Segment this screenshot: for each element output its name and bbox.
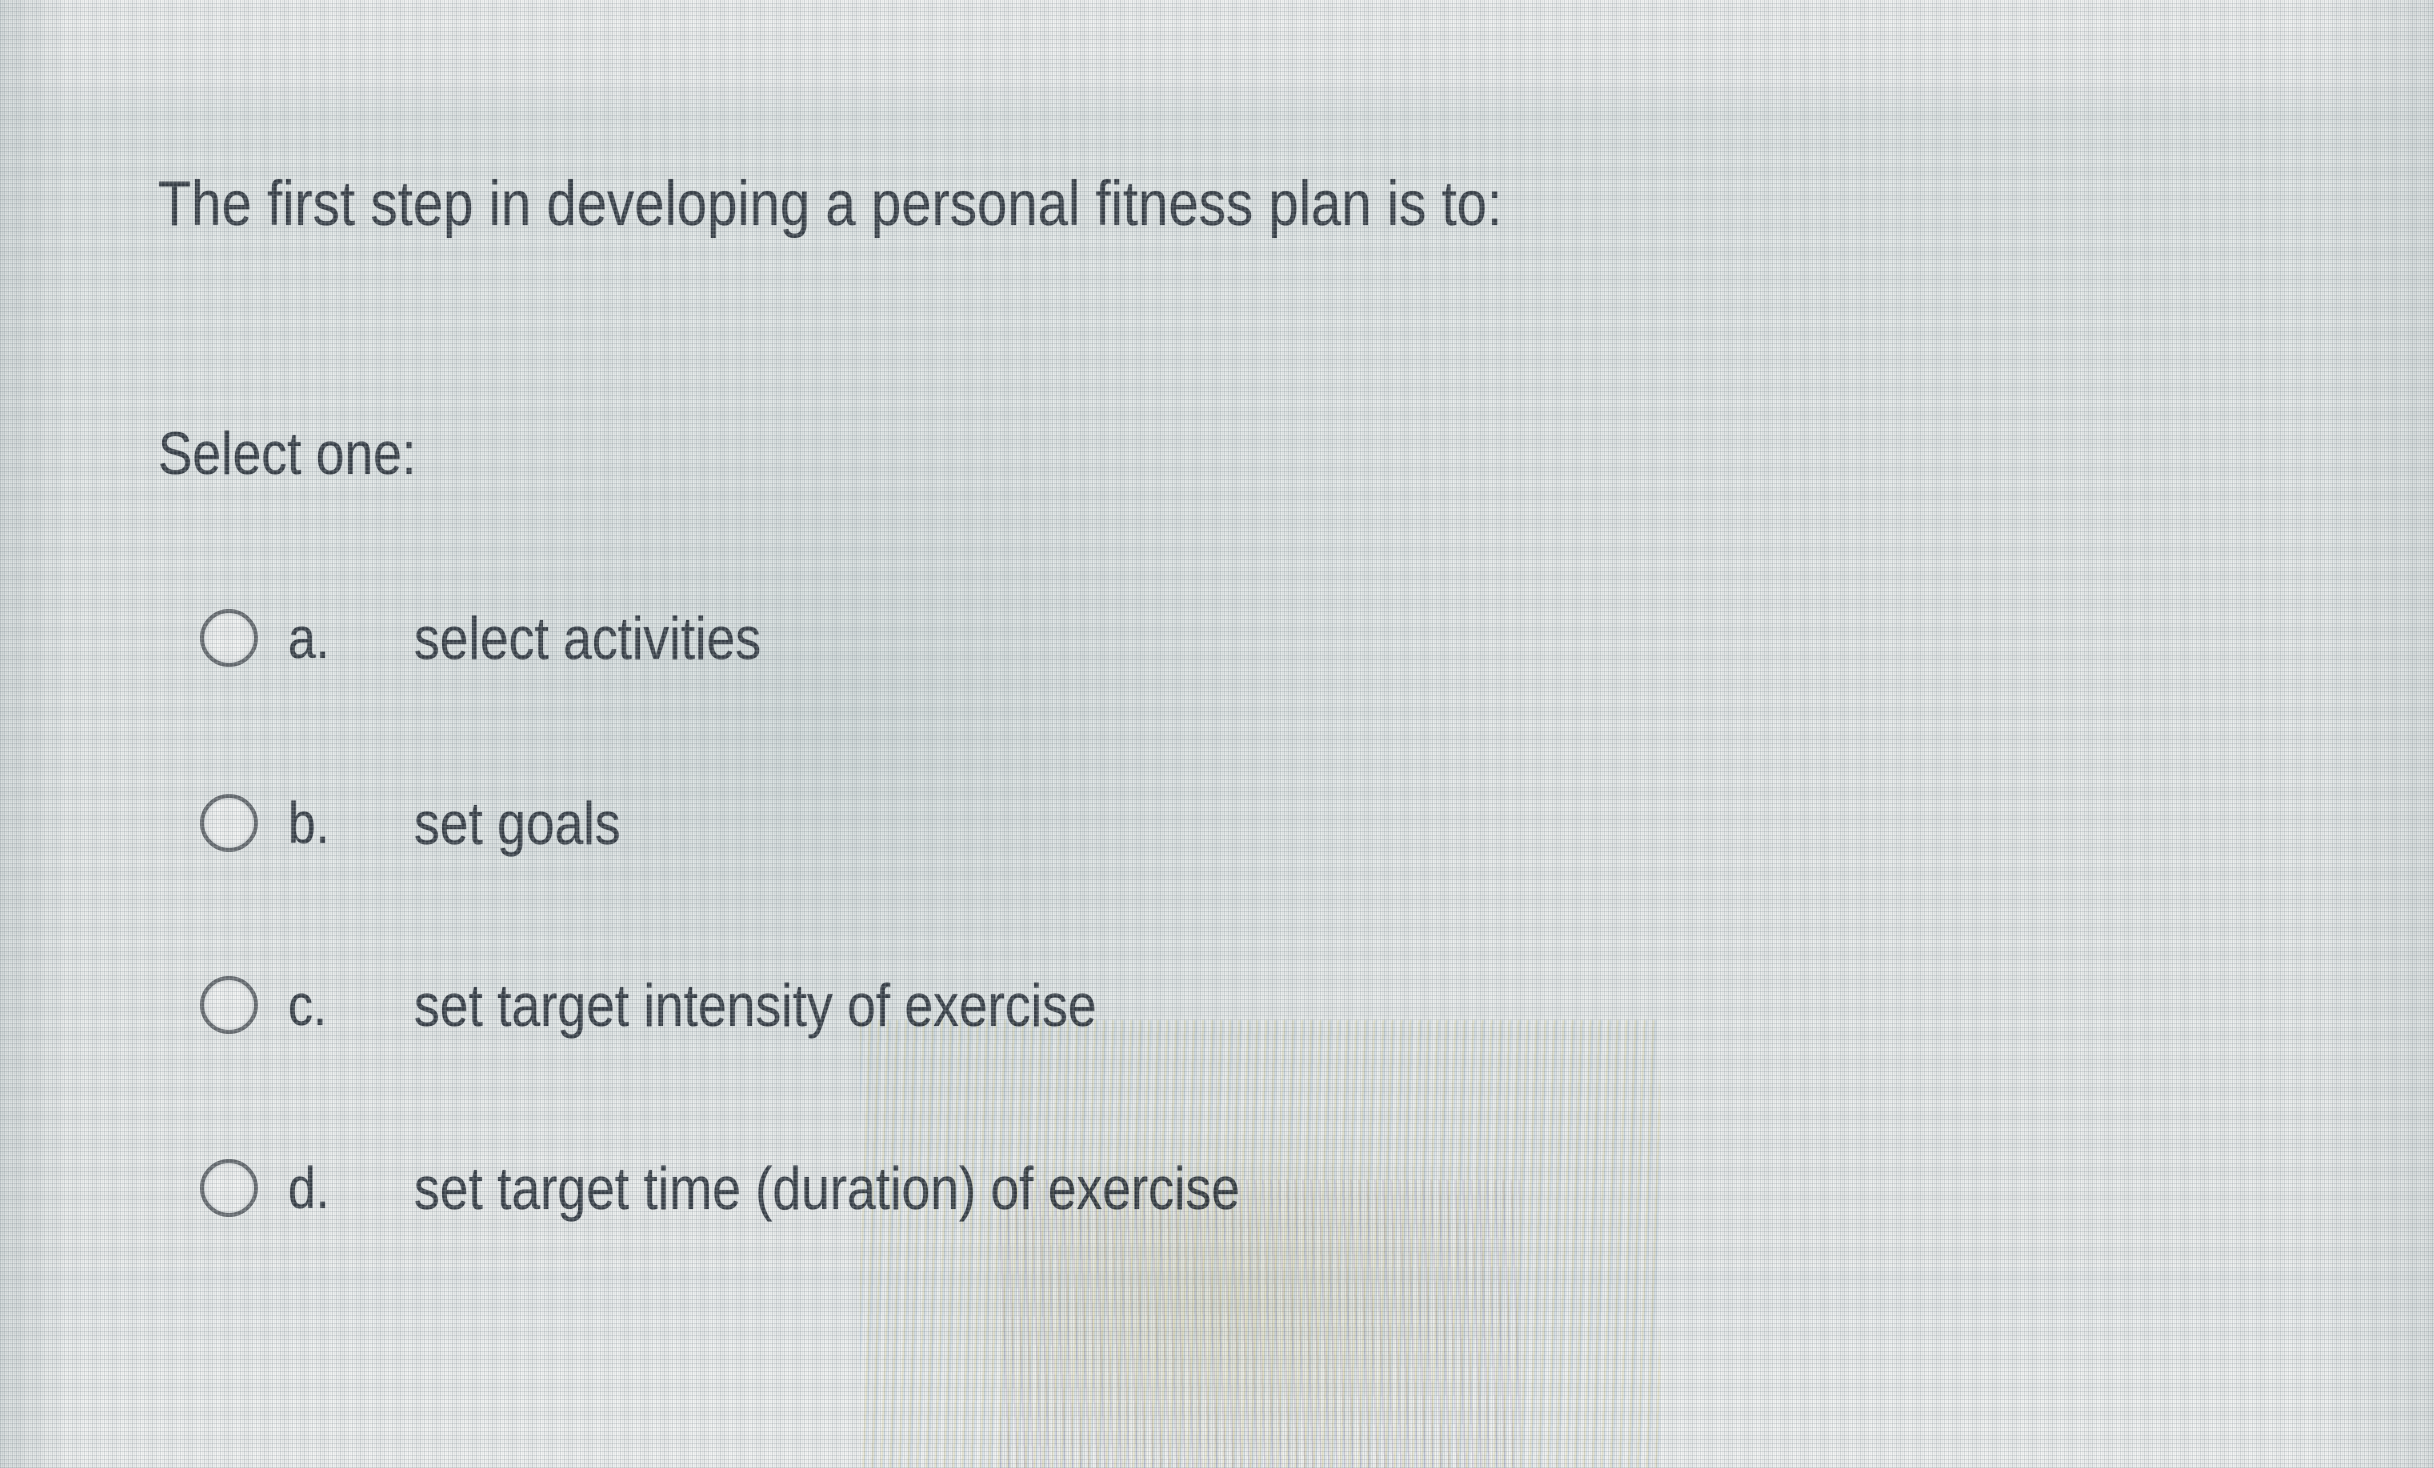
question-content: The first step in developing a personal … bbox=[0, 0, 2434, 1468]
radio-unchecked-icon[interactable] bbox=[200, 794, 258, 852]
select-one-label: Select one: bbox=[158, 420, 416, 488]
option-letter: b. bbox=[288, 790, 371, 857]
radio-unchecked-icon[interactable] bbox=[200, 1159, 258, 1217]
option-label: select activities bbox=[414, 604, 761, 673]
answer-option-d[interactable]: d. set target time (duration) of exercis… bbox=[200, 1145, 1374, 1231]
radio-unchecked-icon[interactable] bbox=[200, 976, 258, 1034]
option-label: set target time (duration) of exercise bbox=[414, 1154, 1240, 1223]
option-label: set goals bbox=[414, 789, 621, 858]
answer-option-b[interactable]: b. set goals bbox=[200, 780, 654, 866]
answer-option-a[interactable]: a. select activities bbox=[200, 595, 817, 681]
option-letter: d. bbox=[288, 1155, 371, 1222]
option-letter: c. bbox=[288, 972, 371, 1039]
quiz-screenshot: The first step in developing a personal … bbox=[0, 0, 2434, 1468]
question-text: The first step in developing a personal … bbox=[158, 168, 1502, 240]
option-letter: a. bbox=[288, 605, 371, 672]
radio-unchecked-icon[interactable] bbox=[200, 609, 258, 667]
answer-option-c[interactable]: c. set target intensity of exercise bbox=[200, 962, 1208, 1048]
option-label: set target intensity of exercise bbox=[414, 971, 1097, 1040]
